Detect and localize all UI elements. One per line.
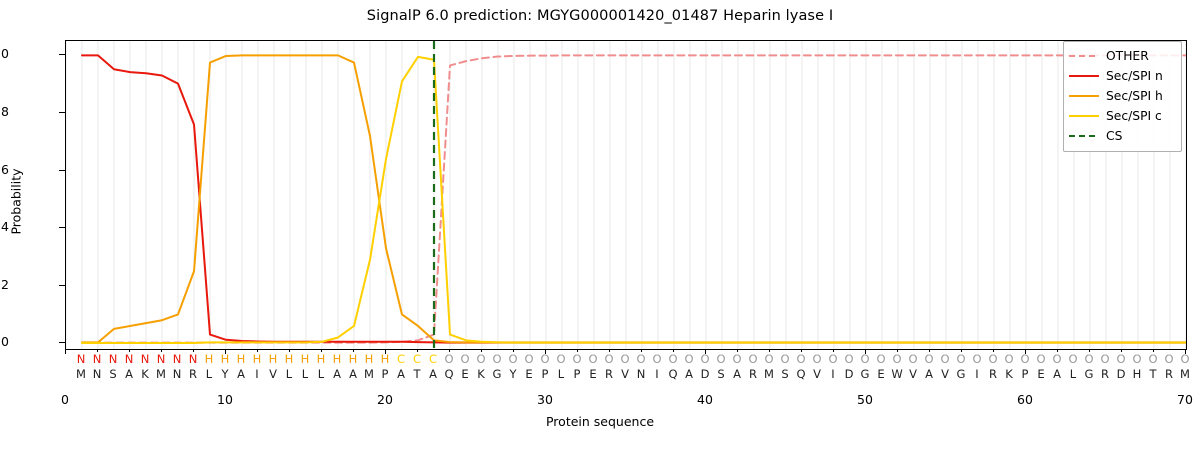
series-lines [82, 55, 1186, 343]
x-axis-label: Protein sequence [0, 414, 1200, 429]
y-tick-label: 1.0 [0, 46, 9, 61]
x-tick-label: 30 [515, 392, 575, 407]
x-tick-label: 70 [1155, 392, 1200, 407]
legend-label-secspi-n: Sec/SPI n [1106, 69, 1163, 83]
y-axis-label: Probability [9, 102, 24, 302]
legend-item-cs[interactable]: CS [1069, 126, 1176, 146]
x-tick-label: 50 [835, 392, 895, 407]
y-tick-label: 0.4 [0, 219, 9, 234]
x-tick-label: 20 [355, 392, 415, 407]
region-annotation-row: NNNNNNNNHHHHHHHHHHHHCCCOOOOOOOOOOOOOOOOO… [65, 352, 1185, 367]
legend-label-secspi-c: Sec/SPI c [1106, 109, 1162, 123]
plot-svg [66, 41, 1186, 349]
legend-label-secspi-h: Sec/SPI h [1106, 89, 1163, 103]
sequence-residue-cell: M [1176, 367, 1194, 382]
y-tick-label: 0.6 [0, 162, 9, 177]
y-tick-label: 0.8 [0, 104, 9, 119]
amino-acid-sequence-row: MNSAKMNRLYAIVLLLAAMPATAQEKGYEPLPERVNIQAD… [65, 367, 1185, 382]
legend-label-cs: CS [1106, 129, 1122, 143]
series-line-sec-spi-c [82, 57, 1186, 343]
chart-legend: OTHER Sec/SPI n Sec/SPI h Sec/SPI c CS [1063, 41, 1182, 152]
x-tick-label: 10 [195, 392, 255, 407]
legend-item-other[interactable]: OTHER [1069, 46, 1176, 66]
signalp-prediction-figure: SignalP 6.0 prediction: MGYG000001420_01… [0, 0, 1200, 450]
legend-item-secspi-h[interactable]: Sec/SPI h [1069, 86, 1176, 106]
series-line-sec-spi-h [82, 55, 1186, 342]
legend-item-secspi-c[interactable]: Sec/SPI c [1069, 106, 1176, 126]
x-tick-label: 40 [675, 392, 735, 407]
x-tick-label: 0 [35, 392, 95, 407]
plot-area [65, 40, 1187, 350]
vertical-gridlines [66, 41, 1186, 349]
region-annotation-cell: O [1176, 352, 1194, 367]
legend-swatch-cs [1069, 130, 1099, 142]
y-tick-label: 0.0 [0, 334, 9, 349]
series-line-other [82, 55, 1186, 342]
x-tick-label: 60 [995, 392, 1055, 407]
legend-swatch-secspi-c [1069, 110, 1099, 122]
legend-label-other: OTHER [1106, 49, 1149, 63]
y-tick-label: 0.2 [0, 277, 9, 292]
series-line-sec-spi-n [82, 55, 1186, 342]
legend-swatch-secspi-n [1069, 70, 1099, 82]
legend-swatch-other [1069, 50, 1099, 62]
legend-item-secspi-n[interactable]: Sec/SPI n [1069, 66, 1176, 86]
legend-swatch-secspi-h [1069, 90, 1099, 102]
chart-title: SignalP 6.0 prediction: MGYG000001420_01… [0, 8, 1200, 24]
